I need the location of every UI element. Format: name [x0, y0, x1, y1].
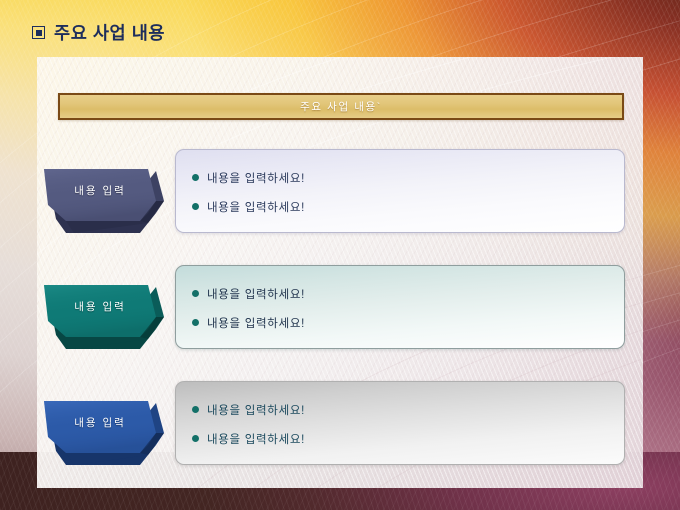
content-row: 내용 입력 내용을 입력하세요! 내용을 입력하세요! — [37, 379, 643, 481]
bullet-item: 내용을 입력하세요! — [192, 192, 624, 221]
pentagon-arrow-icon — [44, 389, 174, 475]
bullet-dot-icon — [192, 174, 199, 181]
filled-square-bullet-icon — [32, 26, 45, 39]
bullet-label: 내용을 입력하세요! — [207, 431, 305, 447]
bullet-label: 내용을 입력하세요! — [207, 170, 305, 186]
arrow-shape-row3[interactable]: 내용 입력 — [44, 389, 174, 475]
pentagon-arrow-icon — [44, 157, 174, 243]
bullet-item: 내용을 입력하세요! — [192, 308, 624, 337]
bullet-item: 내용을 입력하세요! — [192, 424, 624, 453]
arrow-shape-row2[interactable]: 내용 입력 — [44, 273, 174, 359]
content-box-row1[interactable]: 내용을 입력하세요! 내용을 입력하세요! — [175, 149, 625, 233]
bullet-item: 내용을 입력하세요! — [192, 395, 624, 424]
bullet-label: 내용을 입력하세요! — [207, 199, 305, 215]
bullet-dot-icon — [192, 435, 199, 442]
pentagon-arrow-icon — [44, 273, 174, 359]
page-title: 주요 사업 내용 — [54, 20, 165, 45]
content-panel: 주요 사업 내용` — [37, 57, 643, 488]
bullet-dot-icon — [192, 406, 199, 413]
bullet-dot-icon — [192, 319, 199, 326]
content-box-row3[interactable]: 내용을 입력하세요! 내용을 입력하세요! — [175, 381, 625, 465]
slide-title-row: 주요 사업 내용 — [32, 20, 165, 45]
section-banner-label: 주요 사업 내용` — [300, 99, 382, 114]
bullet-item: 내용을 입력하세요! — [192, 279, 624, 308]
slide-canvas: 주요 사업 내용 주요 사업 내용` — [0, 0, 680, 510]
content-row: 내용 입력 내용을 입력하세요! 내용을 입력하세요! — [37, 263, 643, 365]
rows-container: 내용 입력 내용을 입력하세요! 내용을 입력하세요! — [37, 147, 643, 453]
content-row: 내용 입력 내용을 입력하세요! 내용을 입력하세요! — [37, 147, 643, 249]
section-banner: 주요 사업 내용` — [58, 93, 624, 120]
bullet-dot-icon — [192, 290, 199, 297]
bullet-label: 내용을 입력하세요! — [207, 315, 305, 331]
content-box-row2[interactable]: 내용을 입력하세요! 내용을 입력하세요! — [175, 265, 625, 349]
arrow-shape-row1[interactable]: 내용 입력 — [44, 157, 174, 243]
bullet-item: 내용을 입력하세요! — [192, 163, 624, 192]
bullet-dot-icon — [192, 203, 199, 210]
bullet-label: 내용을 입력하세요! — [207, 402, 305, 418]
bullet-label: 내용을 입력하세요! — [207, 286, 305, 302]
